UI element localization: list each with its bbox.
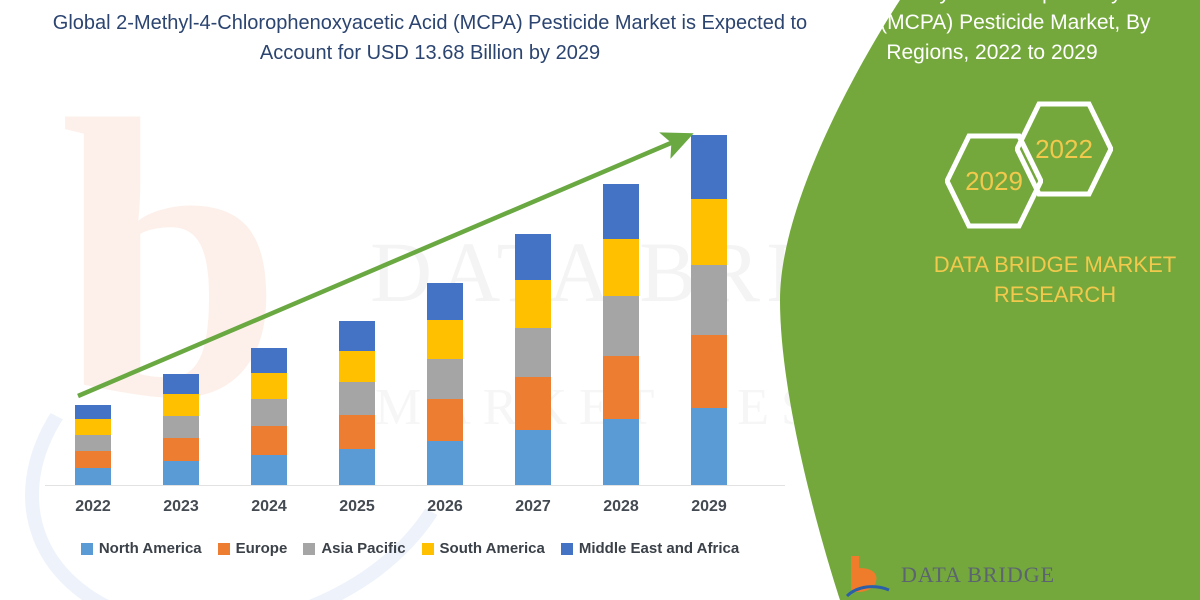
bar-segment xyxy=(251,399,287,426)
bar-segment xyxy=(515,377,551,430)
bar-2028 xyxy=(603,184,639,485)
bar-segment xyxy=(603,239,639,297)
bar-segment xyxy=(251,348,287,373)
x-axis-label-2023: 2023 xyxy=(151,498,211,516)
legend-label: Europe xyxy=(236,540,288,557)
legend-label: Middle East and Africa xyxy=(579,540,739,557)
bar-segment xyxy=(339,449,375,485)
bar-2025 xyxy=(339,321,375,485)
bar-segment xyxy=(75,451,111,468)
legend-label: Asia Pacific xyxy=(321,540,405,557)
legend-swatch-icon xyxy=(561,543,573,555)
hexagon-year-group: 2029 2022 xyxy=(930,100,1130,230)
panel-title: Global 2-Methyl-4-Chlorophenoxyacetic Ac… xyxy=(792,0,1192,68)
bar-segment xyxy=(339,415,375,449)
bar-segment xyxy=(427,399,463,441)
bar-segment xyxy=(163,374,199,394)
data-bridge-logo: DATA BRIDGE xyxy=(845,552,1055,598)
bar-segment xyxy=(515,430,551,485)
bar-segment xyxy=(427,283,463,320)
bar-segment xyxy=(515,280,551,328)
infographic-page: b DATA BRIDGE MARKET RESEARCH Global 2-M… xyxy=(0,0,1200,600)
bar-segment xyxy=(251,426,287,455)
bar-segment xyxy=(691,199,727,266)
bar-segment xyxy=(515,234,551,279)
legend-swatch-icon xyxy=(81,543,93,555)
bar-segment xyxy=(163,416,199,438)
bar-segment xyxy=(515,328,551,378)
legend-item-middle-east-and-africa[interactable]: Middle East and Africa xyxy=(561,540,739,557)
bar-segment xyxy=(339,321,375,351)
bar-segment xyxy=(603,356,639,419)
bar-segment xyxy=(603,296,639,356)
bar-2024 xyxy=(251,348,287,485)
bar-segment xyxy=(163,438,199,461)
legend-item-asia-pacific[interactable]: Asia Pacific xyxy=(303,540,405,557)
bar-segment xyxy=(427,320,463,359)
chart-legend: North AmericaEuropeAsia PacificSouth Ame… xyxy=(0,540,820,557)
legend-label: South America xyxy=(440,540,545,557)
bar-segment xyxy=(75,405,111,420)
x-axis-labels: 20222023202420252026202720282029 xyxy=(0,498,820,524)
bar-segment xyxy=(691,135,727,199)
legend-label: North America xyxy=(99,540,202,557)
x-axis-label-2026: 2026 xyxy=(415,498,475,516)
bar-segment xyxy=(251,455,287,485)
panel-brand-text: DATA BRIDGE MARKET RESEARCH xyxy=(930,250,1180,310)
x-axis-label-2025: 2025 xyxy=(327,498,387,516)
bar-segment xyxy=(427,441,463,485)
bar-segment xyxy=(163,461,199,485)
bar-segment xyxy=(75,468,111,485)
bar-segment xyxy=(251,373,287,399)
x-axis-label-2022: 2022 xyxy=(63,498,123,516)
bar-2027 xyxy=(515,234,551,485)
hexagon-2022: 2022 xyxy=(1015,100,1113,198)
bar-segment xyxy=(603,419,639,485)
legend-swatch-icon xyxy=(218,543,230,555)
bar-segment xyxy=(691,408,727,485)
x-axis-label-2027: 2027 xyxy=(503,498,563,516)
bar-segment xyxy=(603,184,639,239)
x-axis-label-2024: 2024 xyxy=(239,498,299,516)
x-axis-label-2029: 2029 xyxy=(679,498,739,516)
legend-item-north-america[interactable]: North America xyxy=(81,540,202,557)
bar-segment xyxy=(75,435,111,451)
chart-plot-area: 20222023202420252026202720282029 North A… xyxy=(0,0,820,600)
bar-segment xyxy=(691,335,727,408)
legend-item-europe[interactable]: Europe xyxy=(218,540,288,557)
bar-segment xyxy=(691,265,727,334)
bar-2026 xyxy=(427,283,463,485)
x-axis-label-2028: 2028 xyxy=(591,498,651,516)
bar-segment xyxy=(339,382,375,414)
data-bridge-mark-icon xyxy=(845,552,891,598)
hexagon-2022-label: 2022 xyxy=(1035,134,1093,165)
bar-segment xyxy=(75,419,111,434)
legend-swatch-icon xyxy=(422,543,434,555)
data-bridge-logo-text: DATA BRIDGE xyxy=(901,562,1055,588)
legend-swatch-icon xyxy=(303,543,315,555)
bar-2022 xyxy=(75,405,111,485)
legend-item-south-america[interactable]: South America xyxy=(422,540,545,557)
bar-2023 xyxy=(163,374,199,485)
bar-2029 xyxy=(691,135,727,485)
bar-segment xyxy=(339,351,375,382)
bar-segment xyxy=(163,394,199,415)
x-axis-line xyxy=(45,485,785,486)
bar-segment xyxy=(427,359,463,399)
